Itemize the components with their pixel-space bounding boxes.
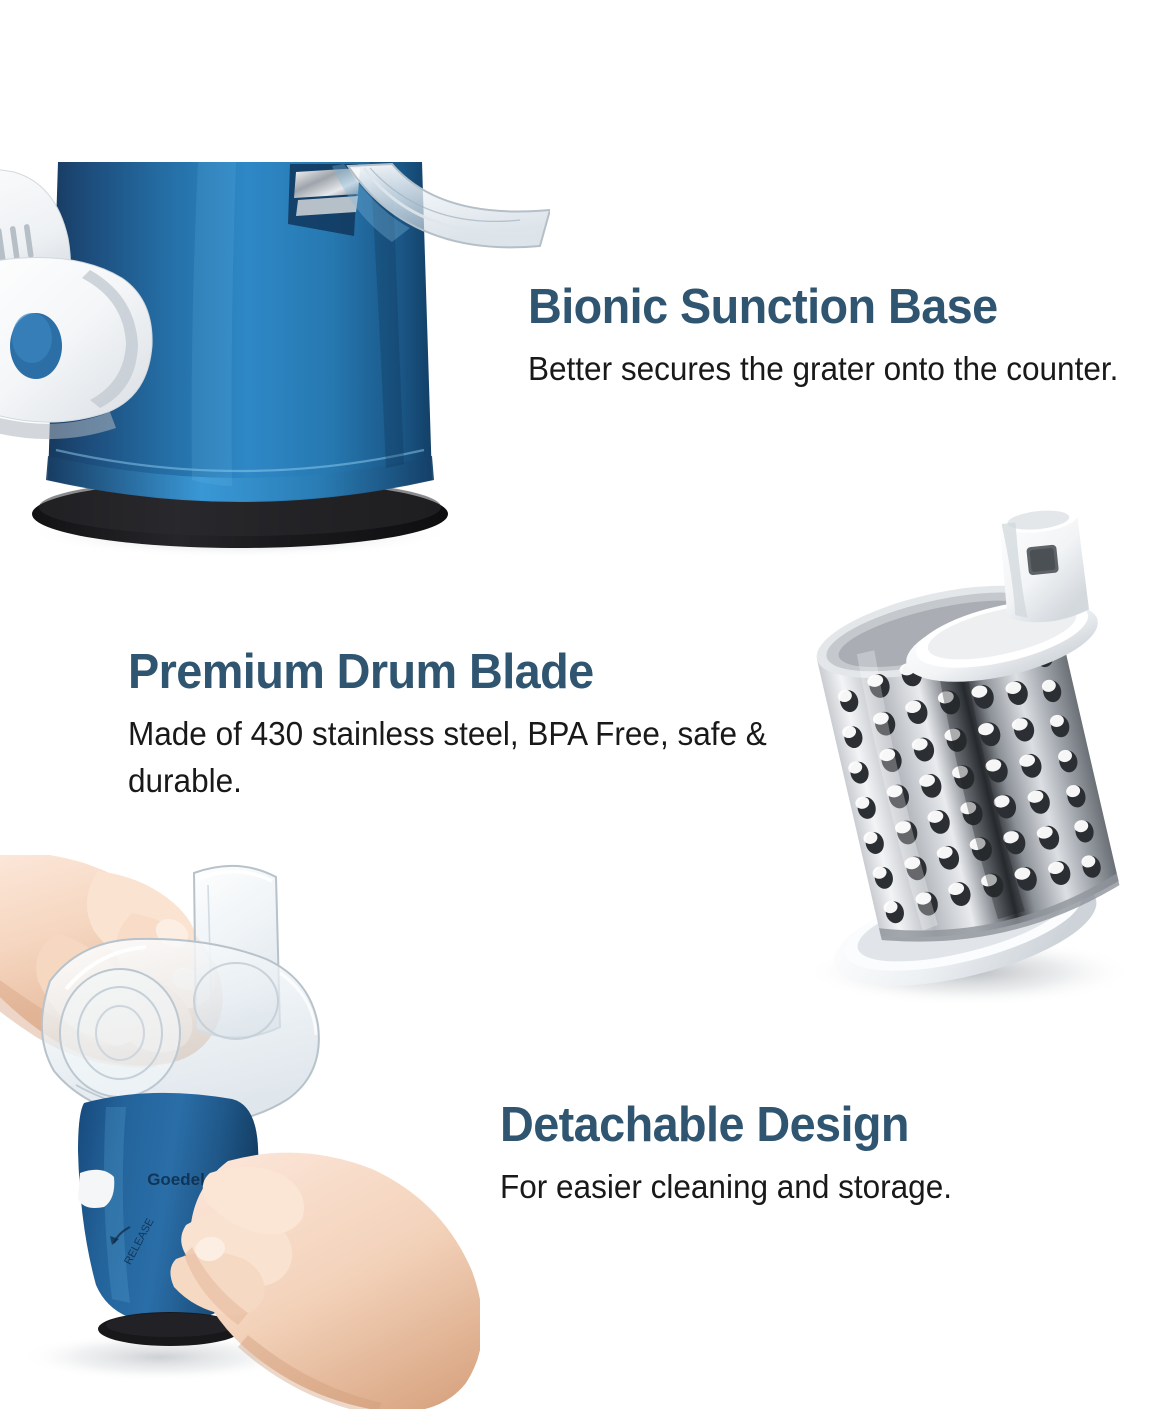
product-photo-detachable: Goedel LOCK RELEASE [0, 855, 480, 1409]
feature-title-bionic-suction-base: Bionic Sunction Base [528, 283, 1139, 332]
feature-title-detachable-design: Detachable Design [500, 1101, 1130, 1150]
feature-description-detachable-design: For easier cleaning and storage. [500, 1164, 1130, 1211]
feature-block-premium-drum-blade: Premium Drum Blade Made of 430 stainless… [128, 648, 828, 805]
infographic-page: Goedel LOCK RELEASE [0, 0, 1170, 1409]
feature-title-premium-drum-blade: Premium Drum Blade [128, 648, 797, 697]
feature-description-bionic-suction-base: Better secures the grater onto the count… [528, 346, 1139, 393]
feature-block-bionic-suction-base: Bionic Sunction Base Better secures the … [528, 283, 1168, 393]
drum-drive-shaft [996, 500, 1090, 626]
product-photo-drum-blade [770, 480, 1170, 1020]
feature-description-premium-drum-blade: Made of 430 stainless steel, BPA Free, s… [128, 711, 797, 805]
feature-block-detachable-design: Detachable Design For easier cleaning an… [500, 1101, 1160, 1211]
brand-label: Goedel [147, 1170, 205, 1189]
product-photo-suction-base [0, 150, 550, 570]
white-latch-left [78, 1170, 114, 1208]
